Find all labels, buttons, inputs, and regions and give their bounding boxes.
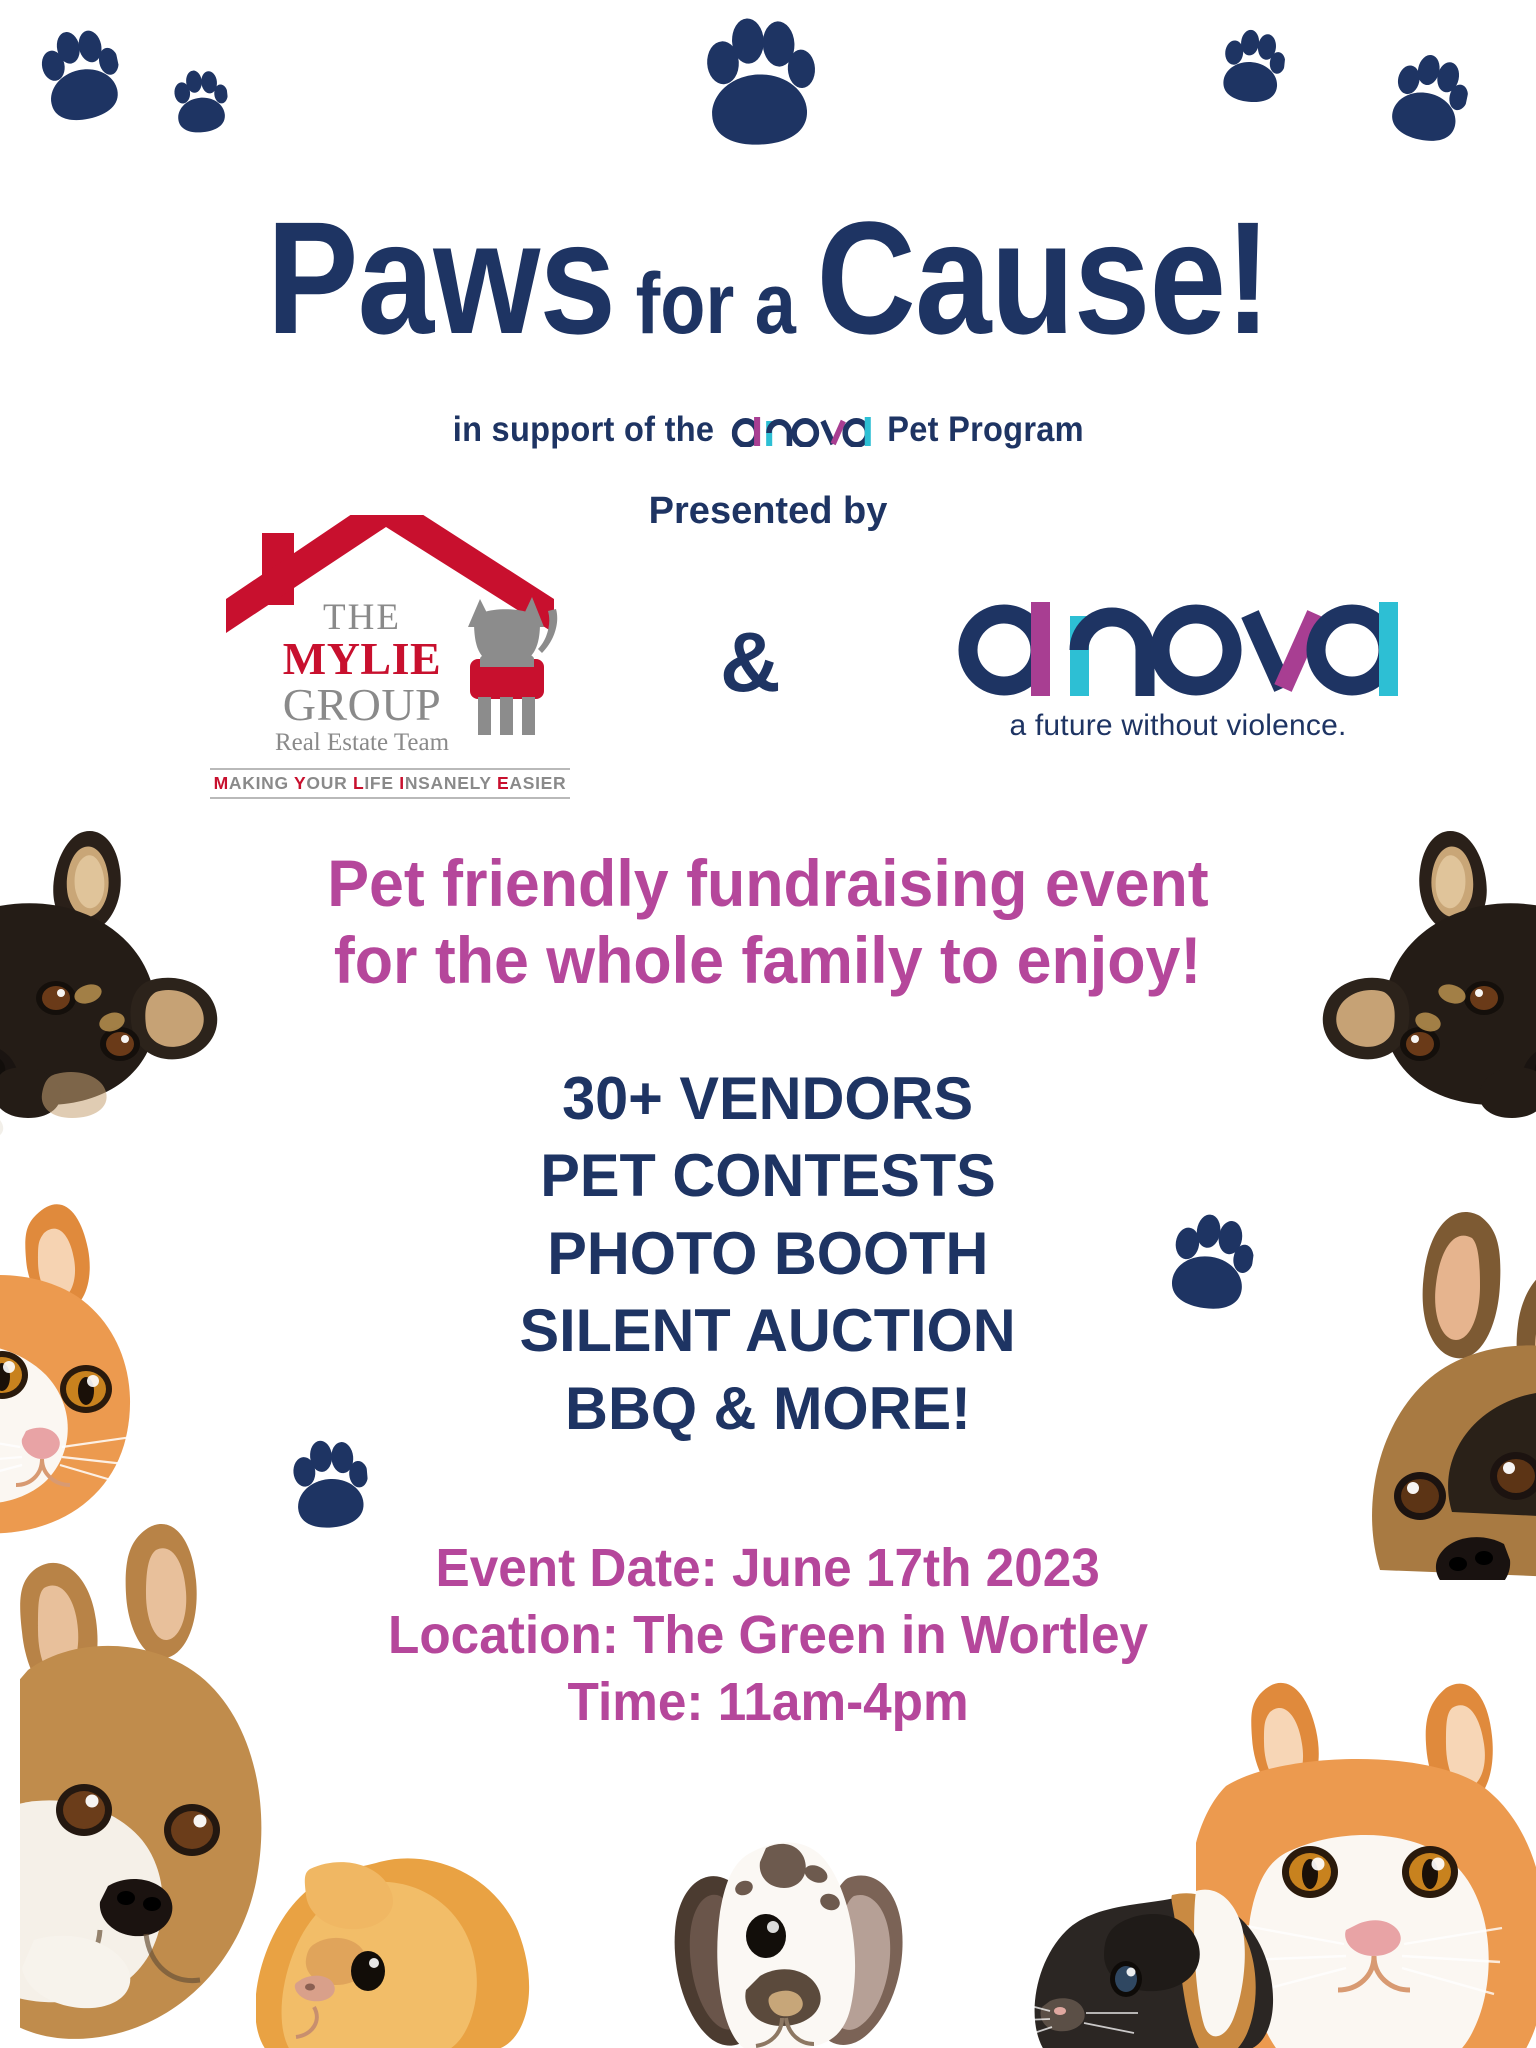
title-word-fora: for a (615, 256, 816, 352)
rabbit-lop-photo (640, 1838, 940, 2048)
guinea-pig-golden-photo (256, 1845, 556, 2048)
feature-item: BBQ & MORE! (565, 1370, 971, 1447)
mylie-line-the: THE (262, 599, 462, 636)
ampersand-separator: & (720, 620, 781, 704)
anova-wordmark-icon (958, 588, 1398, 696)
mylie-group-logo: THE MYLIE GROUP Real Estate Team (210, 515, 570, 805)
mylie-wordmark: THE MYLIE GROUP Real Estate Team (262, 599, 462, 755)
mylie-tagline: MAKING YOUR LIFE INSANELY EASIER (210, 768, 570, 799)
paw-print-icon (1382, 48, 1475, 150)
subtitle-suffix: Pet Program (878, 410, 1084, 449)
mylie-line-mylie: MYLIE (262, 636, 462, 682)
mylie-line-team: Real Estate Team (262, 730, 462, 755)
poster-canvas: Paws for a Cause! in support of the (0, 0, 1536, 2048)
mylie-dog-icon (448, 593, 566, 751)
feature-item: SILENT AUCTION (520, 1292, 1016, 1369)
title-word-cause: Cause! (816, 188, 1270, 367)
event-date: Event Date: June 17th 2023 (436, 1535, 1100, 1602)
paw-print-icon (31, 23, 128, 130)
paw-print-icon (169, 67, 231, 137)
event-time: Time: 11am-4pm (567, 1669, 968, 1736)
lead-line-2: for the whole family to enjoy! (334, 922, 1201, 999)
subtitle-prefix: in support of the (452, 410, 723, 449)
paw-print-icon (697, 15, 820, 151)
poster-title: Paws for a Cause! (0, 198, 1536, 358)
feature-item: PHOTO BOOTH (547, 1215, 988, 1292)
subtitle-line: in support of the Pet Program (0, 410, 1536, 456)
feature-item: PET CONTESTS (540, 1137, 995, 1214)
event-details: Event Date: June 17th 2023 Location: The… (0, 1535, 1536, 1736)
lead-headline: Pet friendly fundraising event for the w… (0, 845, 1536, 999)
event-location: Location: The Green in Wortley (388, 1602, 1148, 1669)
anova-tagline: a future without violence. (958, 709, 1398, 743)
guinea-pig-black-white-photo (1020, 1885, 1280, 2048)
lead-line-1: Pet friendly fundraising event (327, 845, 1208, 922)
anova-logo: a future without violence. (958, 588, 1418, 748)
anova-wordmark-icon (732, 413, 872, 456)
paw-print-icon (1216, 27, 1287, 107)
mylie-line-group: GROUP (262, 682, 462, 728)
features-list: 30+ VENDORS PET CONTESTS PHOTO BOOTH SIL… (0, 1060, 1536, 1447)
feature-item: 30+ VENDORS (562, 1060, 973, 1137)
title-word-paws: Paws (266, 188, 614, 367)
